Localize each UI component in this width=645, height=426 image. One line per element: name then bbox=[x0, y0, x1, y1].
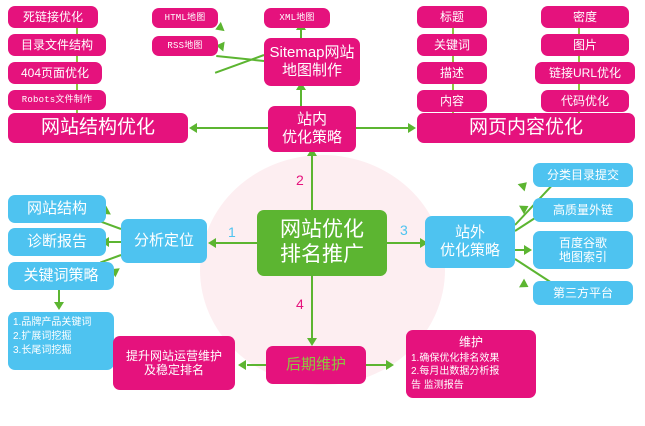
node-dead-link-optimization[interactable]: 死链接优化 bbox=[8, 6, 98, 28]
node-images[interactable]: 图片 bbox=[541, 34, 629, 56]
node-offsite-optimization-strategy[interactable]: 站外 优化策略 bbox=[425, 216, 515, 268]
maintenance-details-title: 维护 bbox=[411, 334, 531, 351]
connector-center-to-maintenance bbox=[311, 276, 313, 342]
arrow-offsite-to-mapindex bbox=[524, 245, 532, 255]
node-sitemap-creation[interactable]: Sitemap网站 地图制作 bbox=[264, 38, 360, 86]
node-description[interactable]: 描述 bbox=[417, 62, 487, 84]
node-post-maintenance[interactable]: 后期维护 bbox=[266, 346, 366, 384]
node-analysis-positioning[interactable]: 分析定位 bbox=[121, 219, 207, 263]
node-keywords[interactable]: 关键词 bbox=[417, 34, 487, 56]
node-keyword-strategy[interactable]: 关键词策略 bbox=[8, 262, 114, 290]
node-content[interactable]: 内容 bbox=[417, 90, 487, 112]
diagram-canvas: 死链接优化 目录文件结构 404页面优化 Robots文件制作 网站结构优化 H… bbox=[0, 0, 645, 426]
node-third-party-platform[interactable]: 第三方平台 bbox=[533, 281, 633, 305]
node-density[interactable]: 密度 bbox=[541, 6, 629, 28]
branch-number-2: 2 bbox=[296, 172, 304, 188]
node-site-structure-optimization-heading[interactable]: 网站结构优化 bbox=[8, 113, 188, 143]
node-directory-file-structure[interactable]: 目录文件结构 bbox=[8, 34, 106, 56]
node-diagnostic-report[interactable]: 诊断报告 bbox=[8, 228, 106, 256]
connector-center-to-analysis bbox=[215, 242, 261, 244]
node-category-directory-submission[interactable]: 分类目录提交 bbox=[533, 163, 633, 187]
connector-onsite-to-content bbox=[352, 127, 410, 129]
node-website-structure[interactable]: 网站结构 bbox=[8, 195, 106, 223]
node-link-url-optimization[interactable]: 链接URL优化 bbox=[535, 62, 635, 84]
node-html-sitemap[interactable]: HTML地图 bbox=[152, 8, 218, 28]
arrow-offsite-to-category bbox=[518, 179, 531, 192]
arrow-onsite-to-content bbox=[408, 123, 416, 133]
node-onsite-optimization-strategy[interactable]: 站内 优化策略 bbox=[268, 106, 356, 152]
connector-onsite-to-structure bbox=[196, 127, 276, 129]
arrow-onsite-to-structure bbox=[189, 123, 197, 133]
node-code-optimization[interactable]: 代码优化 bbox=[541, 90, 629, 112]
arrow-center-to-analysis bbox=[208, 238, 216, 248]
arrow-offsite-to-thirdparty bbox=[519, 279, 531, 292]
node-maintenance-details[interactable]: 维护 1.确保优化排名效果 2.每月出数据分析报 告 监测报告 bbox=[406, 330, 536, 398]
node-rss-sitemap[interactable]: RSS地图 bbox=[152, 36, 218, 56]
connector-center-to-offsite bbox=[385, 242, 425, 244]
node-robots-file-creation[interactable]: Robots文件制作 bbox=[8, 90, 106, 110]
branch-number-3: 3 bbox=[400, 222, 408, 238]
node-404-page-optimization[interactable]: 404页面优化 bbox=[8, 62, 102, 84]
connector-analysis-to-diagnostic bbox=[108, 241, 122, 243]
branch-number-4: 4 bbox=[296, 296, 304, 312]
maintenance-details-items: 1.确保优化排名效果 2.每月出数据分析报 告 监测报告 bbox=[411, 352, 531, 393]
arrow-offsite-to-backlinks bbox=[519, 202, 531, 215]
arrow-maintenance-to-right bbox=[386, 360, 394, 370]
node-high-quality-backlinks[interactable]: 高质量外链 bbox=[533, 198, 633, 222]
node-center-title[interactable]: 网站优化 排名推广 bbox=[257, 210, 387, 276]
arrow-maintenance-to-left bbox=[238, 360, 246, 370]
arrow-keyword-to-list bbox=[54, 302, 64, 310]
node-improve-operations[interactable]: 提升网站运营维护 及稳定排名 bbox=[113, 336, 235, 390]
arrow-center-to-maintenance bbox=[307, 338, 317, 346]
node-xml-sitemap[interactable]: XML地图 bbox=[264, 8, 330, 28]
branch-number-1: 1 bbox=[228, 224, 236, 240]
connector-center-to-onsite bbox=[311, 152, 313, 210]
node-keyword-list[interactable]: 1.品牌产品关键词 2.扩展词挖掘 3.长尾词挖掘 bbox=[8, 312, 114, 370]
node-baidu-google-map-index[interactable]: 百度谷歌 地图索引 bbox=[533, 231, 633, 269]
node-title[interactable]: 标题 bbox=[417, 6, 487, 28]
connector-maintenance-to-right bbox=[366, 364, 388, 366]
node-page-content-optimization-heading[interactable]: 网页内容优化 bbox=[417, 113, 635, 143]
